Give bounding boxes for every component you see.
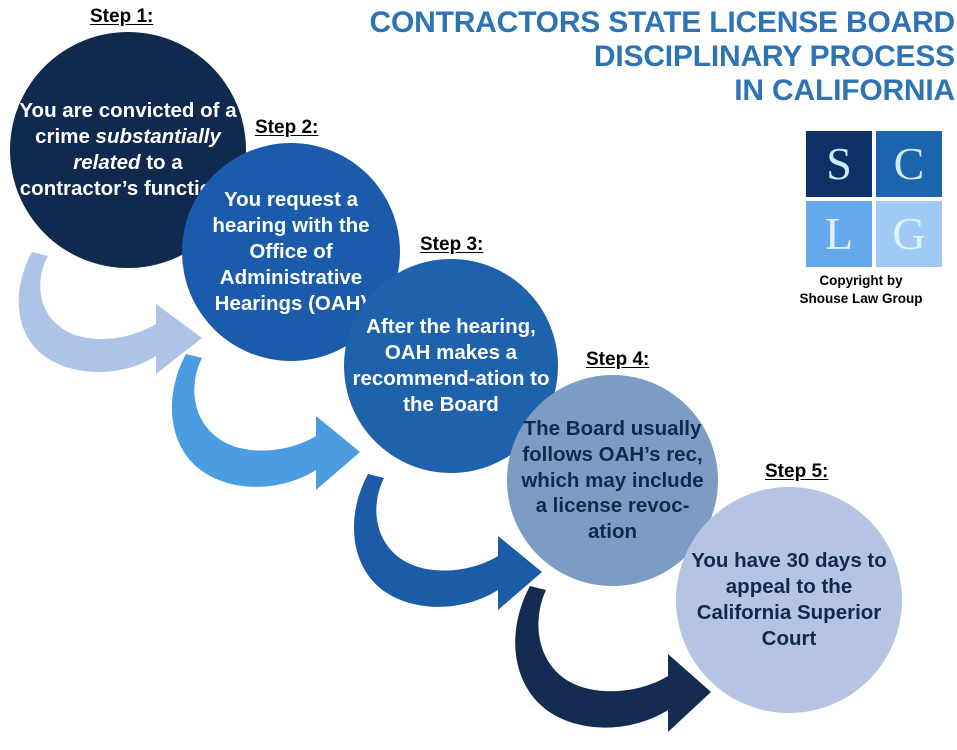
page-title: Contractors State License Board Discipli… xyxy=(255,6,955,108)
step-text-5: You have 30 days to appeal to the Califo… xyxy=(676,548,902,652)
step-label-5: Step 5: xyxy=(765,461,828,483)
step-text-4: The Board usually follows OAH’s rec, whi… xyxy=(507,416,718,545)
step-label-4: Step 4: xyxy=(586,349,649,371)
step-label-3: Step 3: xyxy=(420,234,483,256)
shouse-law-group-logo: S C L G xyxy=(806,131,942,267)
copyright-line-1: Copyright by xyxy=(766,272,956,290)
step-label-1: Step 1: xyxy=(90,6,153,28)
logo-tile-s: S xyxy=(806,131,872,197)
arrow-step2-to-step3 xyxy=(158,348,363,498)
logo-tile-c: C xyxy=(876,131,942,197)
infographic-canvas: Contractors State License Board Discipli… xyxy=(0,0,957,750)
copyright-line-2: Shouse Law Group xyxy=(766,290,956,308)
step-circle-5: You have 30 days to appeal to the Califo… xyxy=(676,487,902,713)
title-line-3: in California xyxy=(255,74,955,108)
title-line-1: Contractors State License Board xyxy=(255,6,955,40)
title-line-2: Disciplinary Process xyxy=(255,40,955,74)
copyright-notice: Copyright by Shouse Law Group xyxy=(766,272,956,308)
step-text-3: After the hearing, OAH makes a recommend… xyxy=(344,314,558,417)
logo-tile-l: L xyxy=(806,201,872,267)
step-label-2: Step 2: xyxy=(255,117,318,139)
logo-tile-g: G xyxy=(876,201,942,267)
